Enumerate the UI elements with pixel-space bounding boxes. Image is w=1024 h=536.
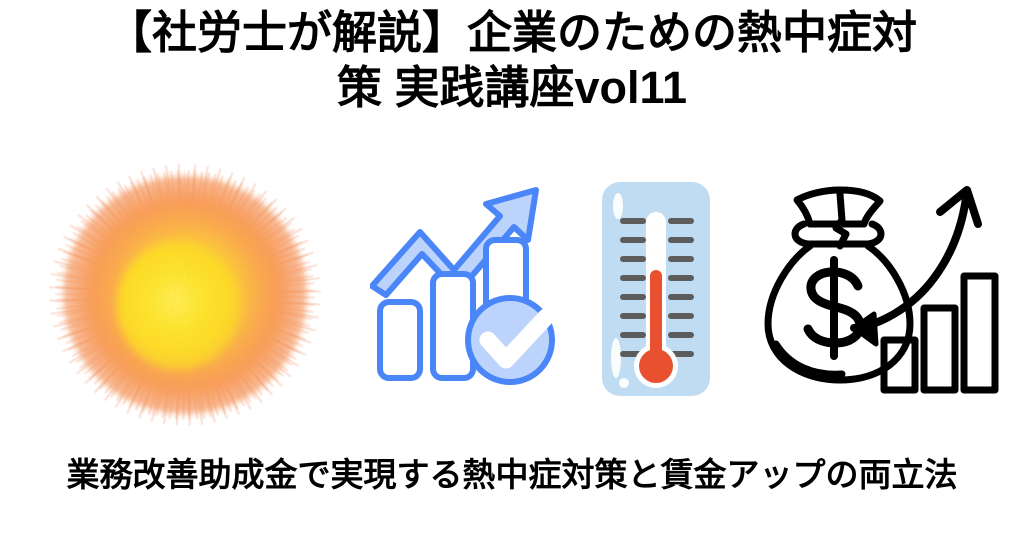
panel-highlight-bottom bbox=[611, 338, 621, 378]
money-bar-3 bbox=[964, 276, 995, 390]
money-bar-2 bbox=[924, 308, 955, 390]
sun-icon bbox=[55, 170, 315, 420]
sun-speckle bbox=[55, 170, 315, 420]
page-title-line-1: 【社労士が解説】企業のための熱中症対 bbox=[18, 6, 1006, 61]
panel-highlight-top bbox=[613, 193, 623, 219]
panel-dot bbox=[619, 378, 629, 388]
page-subtitle: 業務改善助成金で実現する熱中症対策と賃金アップの両立法 bbox=[0, 455, 1024, 495]
icon-strip bbox=[0, 160, 1024, 420]
dollar-sign-icon bbox=[808, 260, 860, 356]
page-title-line-2: 策 実践講座vol11 bbox=[18, 61, 1006, 116]
thumbnail-canvas: 【社労士が解説】企業のための熱中症対 策 実践講座vol11 bbox=[0, 0, 1024, 536]
page-title: 【社労士が解説】企業のための熱中症対 策 実践講座vol11 bbox=[0, 6, 1024, 116]
check-circle-icon bbox=[468, 298, 552, 382]
money-growth-icon bbox=[762, 168, 1014, 396]
bar-2 bbox=[433, 274, 473, 378]
money-bag-fold bbox=[836, 194, 846, 246]
thermometer-icon bbox=[596, 180, 716, 398]
growth-chart-icon bbox=[370, 174, 565, 386]
bar-1 bbox=[380, 302, 420, 378]
